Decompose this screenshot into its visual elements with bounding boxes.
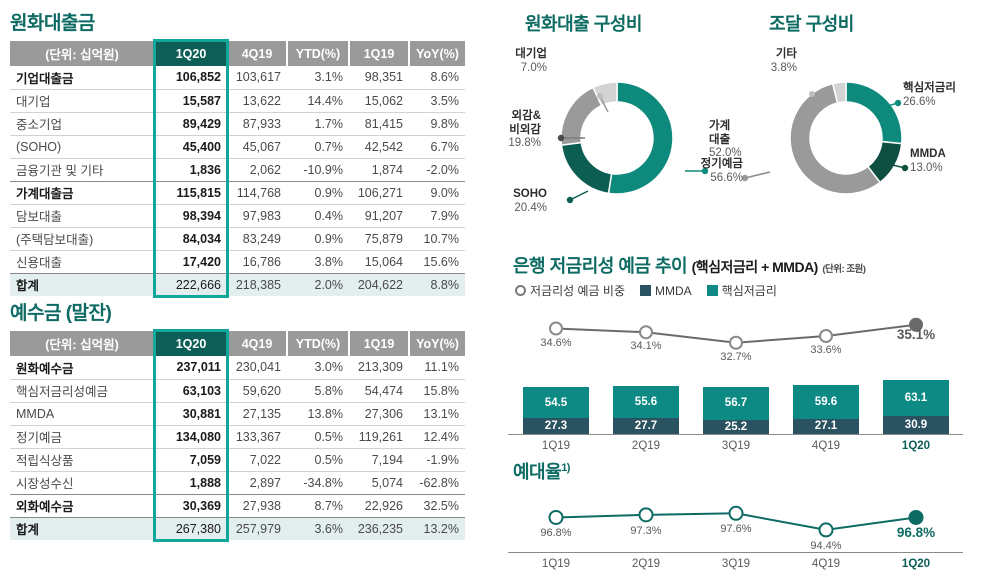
row-value: 10.7% <box>409 227 465 250</box>
row-value: -1.9% <box>409 448 465 471</box>
loans-col-unit: (단위: 십억원) <box>10 41 155 66</box>
funding-mix-donut <box>790 82 902 194</box>
funding-mix-label-mmda: MMDA 13.0% <box>910 148 980 175</box>
funding-mix-label-time-value: 56.6% <box>710 172 743 184</box>
ratio-point-label: 33.6% <box>786 344 866 356</box>
row-value: 1,836 <box>155 158 227 181</box>
table-row: 가계대출금115,815114,7680.9%106,2719.0% <box>10 181 465 204</box>
loans-table-title: 원화대출금 <box>10 8 465 35</box>
row-value: 42,542 <box>349 135 409 158</box>
deposit-trend-title-main: 은행 저금리성 예금 추이 <box>513 256 687 276</box>
row-value: 237,011 <box>155 356 227 379</box>
table-row: (SOHO)45,40045,0670.7%42,5426.7% <box>10 135 465 158</box>
loans-table-wrapper: (단위: 십억원) 1Q20 4Q19 YTD(%) 1Q19 YoY(%) 기… <box>10 41 465 296</box>
deposits-table: (단위: 십억원) 1Q20 4Q19 YTD(%) 1Q19 YoY(%) 원… <box>10 331 465 540</box>
x-axis-label: 1Q19 <box>523 440 589 452</box>
legend-label-ratio: 저금리성 예금 비중 <box>530 282 625 299</box>
row-label: (SOHO) <box>10 135 155 158</box>
swatch-core-icon <box>707 285 718 296</box>
row-value: 0.5% <box>287 425 349 448</box>
x-axis-label: 2Q19 <box>613 440 679 452</box>
ldr-title-superscript: 1) <box>561 462 570 474</box>
row-label: 대기업 <box>10 89 155 112</box>
row-value: 3.5% <box>409 89 465 112</box>
row-value: 7.9% <box>409 204 465 227</box>
row-value: 213,309 <box>349 356 409 379</box>
loans-table-body: 기업대출금106,852103,6173.1%98,3518.6%대기업15,5… <box>10 66 465 296</box>
row-value: -34.8% <box>287 471 349 494</box>
table-row: 신용대출17,42016,7863.8%15,06415.6% <box>10 250 465 273</box>
bar-segment-mmda: 25.2 <box>703 420 769 434</box>
row-value: 3.1% <box>287 66 349 89</box>
row-value: 15,587 <box>155 89 227 112</box>
row-value: 7,194 <box>349 448 409 471</box>
row-value: 8.7% <box>287 494 349 517</box>
total-value: 204,622 <box>349 273 409 296</box>
total-value: 267,380 <box>155 517 227 540</box>
total-value: 218,385 <box>227 273 287 296</box>
row-value: 15.6% <box>409 250 465 273</box>
table-row: 원화예수금237,011230,0413.0%213,30911.1% <box>10 356 465 379</box>
ldr-point-label: 96.8% <box>876 525 956 540</box>
row-value: 30,881 <box>155 402 227 425</box>
row-label: (주택담보대출) <box>10 227 155 250</box>
ldr-point-label: 96.8% <box>516 527 596 539</box>
row-value: 134,080 <box>155 425 227 448</box>
loans-table: (단위: 십억원) 1Q20 4Q19 YTD(%) 1Q19 YoY(%) 기… <box>10 41 465 296</box>
row-value: 13,622 <box>227 89 287 112</box>
row-value: 106,271 <box>349 181 409 204</box>
x-axis-label: 4Q19 <box>793 440 859 452</box>
charts-column: 원화대출 구성비 대기업 7.0% 외감& 비외감 19.8% SOHO 20.… <box>485 0 1000 582</box>
loans-col-4q19: 4Q19 <box>227 41 287 66</box>
row-value: 6.7% <box>409 135 465 158</box>
row-label: 가계대출금 <box>10 181 155 204</box>
funding-mix-label-time: 정기예금 56.6% <box>675 158 743 185</box>
row-value: 0.9% <box>287 181 349 204</box>
funding-mix-label-core-name: 핵심저금리 <box>903 82 993 96</box>
row-label: 금융기관 및 기타 <box>10 158 155 181</box>
row-value: 114,768 <box>227 181 287 204</box>
row-value: 16,786 <box>227 250 287 273</box>
loan-mix-label-soho: SOHO 20.4% <box>485 188 547 215</box>
row-value: 1,874 <box>349 158 409 181</box>
legend-label-mmda: MMDA <box>655 284 692 298</box>
row-value: 1.7% <box>287 112 349 135</box>
row-value: 30,369 <box>155 494 227 517</box>
loan-mix-donut <box>561 82 673 194</box>
bar-segment-mmda: 27.7 <box>613 418 679 434</box>
loan-mix-label-oegam: 외감& 비외감 19.8% <box>483 110 541 151</box>
row-label: 적립식상품 <box>10 448 155 471</box>
row-label: 기업대출금 <box>10 66 155 89</box>
loan-mix-label-daegieop-value: 7.0% <box>521 62 547 74</box>
loan-mix-label-household-name: 가계 대출 <box>709 120 779 147</box>
row-value: 14.4% <box>287 89 349 112</box>
funding-mix-label-mmda-name: MMDA <box>910 148 980 162</box>
deposits-table-title: 예수금 (말잔) <box>10 298 465 325</box>
ldr-title-main: 예대율 <box>513 462 561 482</box>
row-value: 230,041 <box>227 356 287 379</box>
row-value: 59,620 <box>227 379 287 402</box>
loan-mix-label-soho-name: SOHO <box>485 188 547 202</box>
ldr-point-label: 97.6% <box>696 523 776 535</box>
deposits-col-unit: (단위: 십억원) <box>10 331 155 356</box>
row-label: MMDA <box>10 402 155 425</box>
row-value: 17,420 <box>155 250 227 273</box>
tables-column: 원화대출금 (단위: 십억원) 1Q20 4Q19 YTD(%) 1Q19 Yo… <box>10 0 475 582</box>
funding-mix-label-core-value: 26.6% <box>903 96 936 108</box>
table-total-row: 합계222,666218,3852.0%204,6228.8% <box>10 273 465 296</box>
funding-mix-donut-title: 조달 구성비 <box>769 10 854 36</box>
row-label: 핵심저금리성예금 <box>10 379 155 402</box>
deposit-trend-legend: 저금리성 예금 비중 MMDA 핵심저금리 <box>515 282 785 299</box>
loan-mix-label-household: 가계 대출 52.0% <box>709 120 779 161</box>
row-value: 9.0% <box>409 181 465 204</box>
table-row: 핵심저금리성예금63,10359,6205.8%54,47415.8% <box>10 379 465 402</box>
line-marker <box>910 511 923 524</box>
table-row: 시장성수신1,8882,897-34.8%5,074-62.8% <box>10 471 465 494</box>
deposits-table-wrapper: (단위: 십억원) 1Q20 4Q19 YTD(%) 1Q19 YoY(%) 원… <box>10 331 465 540</box>
table-row: 중소기업89,42987,9331.7%81,4159.8% <box>10 112 465 135</box>
ratio-point-label: 34.6% <box>516 337 596 349</box>
row-value: 87,933 <box>227 112 287 135</box>
deposits-col-4q19: 4Q19 <box>227 331 287 356</box>
row-value: 91,207 <box>349 204 409 227</box>
swatch-mmda-icon <box>640 285 651 296</box>
row-value: 115,815 <box>155 181 227 204</box>
total-value: 3.6% <box>287 517 349 540</box>
ldr-axis <box>508 552 963 553</box>
row-value: 97,983 <box>227 204 287 227</box>
loan-mix-label-oegam-name: 외감& 비외감 <box>483 110 541 137</box>
x-axis-label: 1Q19 <box>523 558 589 570</box>
row-value: 63,103 <box>155 379 227 402</box>
row-label: 담보대출 <box>10 204 155 227</box>
row-value: 11.1% <box>409 356 465 379</box>
line-marker <box>550 511 563 524</box>
loan-mix-label-soho-value: 20.4% <box>514 202 547 214</box>
ratio-point-label: 34.1% <box>606 340 686 352</box>
row-value: 75,879 <box>349 227 409 250</box>
row-value: 0.9% <box>287 227 349 250</box>
row-value: 12.4% <box>409 425 465 448</box>
x-axis-label: 3Q19 <box>703 558 769 570</box>
x-axis-label: 1Q20 <box>883 558 949 570</box>
row-value: 13.8% <box>287 402 349 425</box>
funding-mix-label-etc-name: 기타 <box>741 48 797 62</box>
row-value: 5.8% <box>287 379 349 402</box>
loan-mix-donut-svg <box>561 82 673 194</box>
row-value: 106,852 <box>155 66 227 89</box>
row-value: 0.7% <box>287 135 349 158</box>
table-row: 기업대출금106,852103,6173.1%98,3518.6% <box>10 66 465 89</box>
bar-segment-core: 59.6 <box>793 385 859 419</box>
line-marker <box>640 326 652 338</box>
deposit-trend-title: 은행 저금리성 예금 추이 (핵심저금리 + MMDA) (단위: 조원) <box>513 252 865 278</box>
line-marker <box>550 323 562 335</box>
deposits-table-header-row: (단위: 십억원) 1Q20 4Q19 YTD(%) 1Q19 YoY(%) <box>10 331 465 356</box>
legend-item-mmda: MMDA <box>640 284 692 298</box>
funding-mix-label-etc-value: 3.8% <box>771 62 797 74</box>
line-marker <box>730 507 743 520</box>
total-value: 222,666 <box>155 273 227 296</box>
row-value: 0.4% <box>287 204 349 227</box>
deposit-trend-title-sub: (핵심저금리 + MMDA) <box>692 259 818 275</box>
row-value: 15.8% <box>409 379 465 402</box>
row-label: 정기예금 <box>10 425 155 448</box>
total-label: 합계 <box>10 273 155 296</box>
loans-col-1q20: 1Q20 <box>155 41 227 66</box>
ldr-title: 예대율1) <box>513 458 570 484</box>
row-value: 119,261 <box>349 425 409 448</box>
ldr-point-label: 94.4% <box>786 540 866 552</box>
funding-mix-label-mmda-value: 13.0% <box>910 162 943 174</box>
ratio-point-label: 32.7% <box>696 351 776 363</box>
total-value: 257,979 <box>227 517 287 540</box>
table-row: 대기업15,58713,62214.4%15,0623.5% <box>10 89 465 112</box>
row-value: 9.8% <box>409 112 465 135</box>
ldr-point-label: 97.3% <box>606 525 686 537</box>
total-label: 합계 <box>10 517 155 540</box>
x-axis-label: 4Q19 <box>793 558 859 570</box>
loan-mix-label-daegieop-name: 대기업 <box>485 48 547 62</box>
bar-segment-mmda: 27.1 <box>793 419 859 434</box>
row-value: 22,926 <box>349 494 409 517</box>
deposits-col-ytd: YTD(%) <box>287 331 349 356</box>
deposit-trend-axis <box>508 434 963 435</box>
funding-mix-label-time-name: 정기예금 <box>675 158 743 172</box>
total-value: 8.8% <box>409 273 465 296</box>
loans-col-yoy: YoY(%) <box>409 41 465 66</box>
table-total-row: 합계267,380257,9793.6%236,23513.2% <box>10 517 465 540</box>
row-value: 13.1% <box>409 402 465 425</box>
legend-label-core: 핵심저금리 <box>722 282 777 299</box>
row-value: -2.0% <box>409 158 465 181</box>
row-value: 83,249 <box>227 227 287 250</box>
row-value: 103,617 <box>227 66 287 89</box>
row-label: 중소기업 <box>10 112 155 135</box>
row-value: 45,400 <box>155 135 227 158</box>
row-value: 133,367 <box>227 425 287 448</box>
ldr-plot: 96.8%97.3%97.6%94.4%96.8% 1Q192Q193Q194Q… <box>485 492 1000 582</box>
row-value: 89,429 <box>155 112 227 135</box>
loans-col-ytd: YTD(%) <box>287 41 349 66</box>
row-value: 81,415 <box>349 112 409 135</box>
deposit-trend-title-unit: (단위: 조원) <box>822 264 865 275</box>
row-value: 5,074 <box>349 471 409 494</box>
row-label: 시장성수신 <box>10 471 155 494</box>
funding-mix-label-etc: 기타 3.8% <box>741 48 797 75</box>
row-value: 84,034 <box>155 227 227 250</box>
row-value: -10.9% <box>287 158 349 181</box>
row-value: 32.5% <box>409 494 465 517</box>
table-row: 담보대출98,39497,9830.4%91,2077.9% <box>10 204 465 227</box>
row-value: 7,022 <box>227 448 287 471</box>
table-row: 금융기관 및 기타1,8362,062-10.9%1,874-2.0% <box>10 158 465 181</box>
loan-mix-donut-title: 원화대출 구성비 <box>525 10 642 36</box>
row-label: 외화예수금 <box>10 494 155 517</box>
row-label: 신용대출 <box>10 250 155 273</box>
table-row: 외화예수금30,36927,9388.7%22,92632.5% <box>10 494 465 517</box>
row-value: 8.6% <box>409 66 465 89</box>
bar-segment-core: 54.5 <box>523 387 589 418</box>
line-marker <box>820 330 832 342</box>
row-value: 3.0% <box>287 356 349 379</box>
row-value: 98,394 <box>155 204 227 227</box>
loan-mix-label-oegam-value: 19.8% <box>508 137 541 149</box>
line-marker <box>730 337 742 349</box>
table-row: (주택담보대출)84,03483,2490.9%75,87910.7% <box>10 227 465 250</box>
total-value: 13.2% <box>409 517 465 540</box>
legend-item-ratio: 저금리성 예금 비중 <box>515 282 625 299</box>
x-axis-label: 3Q19 <box>703 440 769 452</box>
total-value: 236,235 <box>349 517 409 540</box>
circle-marker-icon <box>515 285 526 296</box>
deposits-section: 예수금 (말잔) (단위: 십억원) 1Q20 4Q19 YTD(%) 1Q19… <box>10 298 465 540</box>
legend-item-core: 핵심저금리 <box>707 282 777 299</box>
row-value: -62.8% <box>409 471 465 494</box>
row-value: 2,897 <box>227 471 287 494</box>
x-axis-label: 2Q19 <box>613 558 679 570</box>
line-marker <box>820 523 833 536</box>
row-value: 2,062 <box>227 158 287 181</box>
loans-section: 원화대출금 (단위: 십억원) 1Q20 4Q19 YTD(%) 1Q19 Yo… <box>10 8 465 296</box>
table-row: MMDA30,88127,13513.8%27,30613.1% <box>10 402 465 425</box>
row-value: 54,474 <box>349 379 409 402</box>
row-value: 27,135 <box>227 402 287 425</box>
deposits-col-yoy: YoY(%) <box>409 331 465 356</box>
row-value: 15,064 <box>349 250 409 273</box>
row-value: 7,059 <box>155 448 227 471</box>
row-value: 15,062 <box>349 89 409 112</box>
ratio-point-label: 35.1% <box>876 327 956 342</box>
deposits-table-body: 원화예수금237,011230,0413.0%213,30911.1%핵심저금리… <box>10 356 465 540</box>
funding-mix-label-core: 핵심저금리 26.6% <box>903 82 993 109</box>
bar-segment-core: 56.7 <box>703 387 769 419</box>
bar-segment-core: 63.1 <box>883 380 949 416</box>
x-axis-label: 1Q20 <box>883 440 949 452</box>
bar-segment-mmda: 27.3 <box>523 418 589 434</box>
deposits-col-1q19: 1Q19 <box>349 331 409 356</box>
line-marker <box>640 508 653 521</box>
row-value: 27,938 <box>227 494 287 517</box>
row-label: 원화예수금 <box>10 356 155 379</box>
row-value: 1,888 <box>155 471 227 494</box>
row-value: 98,351 <box>349 66 409 89</box>
row-value: 27,306 <box>349 402 409 425</box>
bar-segment-core: 55.6 <box>613 386 679 418</box>
row-value: 45,067 <box>227 135 287 158</box>
table-row: 정기예금134,080133,3670.5%119,26112.4% <box>10 425 465 448</box>
deposit-trend-plot: 34.6%34.1%32.7%33.6%35.1% 27.354.527.755… <box>485 300 1000 450</box>
total-value: 2.0% <box>287 273 349 296</box>
loans-col-1q19: 1Q19 <box>349 41 409 66</box>
deposits-col-1q20: 1Q20 <box>155 331 227 356</box>
funding-mix-donut-svg <box>790 82 902 194</box>
row-value: 3.8% <box>287 250 349 273</box>
bar-segment-mmda: 30.9 <box>883 416 949 434</box>
row-value: 0.5% <box>287 448 349 471</box>
loan-mix-label-daegieop: 대기업 7.0% <box>485 48 547 75</box>
loans-table-header-row: (단위: 십억원) 1Q20 4Q19 YTD(%) 1Q19 YoY(%) <box>10 41 465 66</box>
table-row: 적립식상품7,0597,0220.5%7,194-1.9% <box>10 448 465 471</box>
